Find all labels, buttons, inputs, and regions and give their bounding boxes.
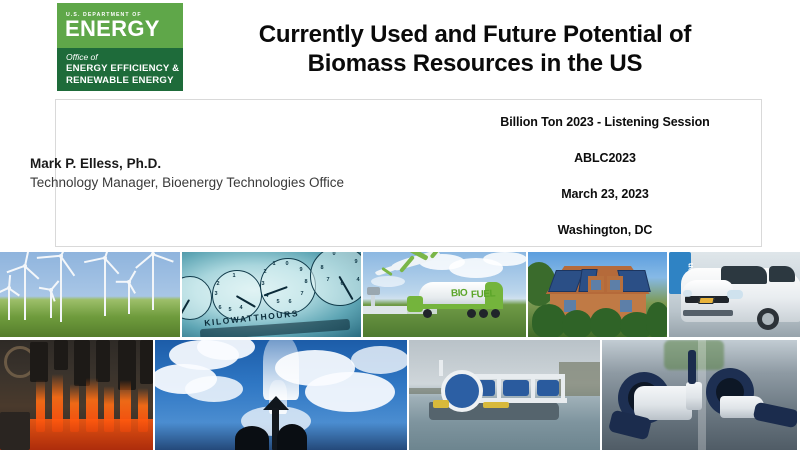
presenter-role: Technology Manager, Bioenergy Technologi… bbox=[30, 173, 430, 192]
event-line-conference: ABLC2023 bbox=[455, 151, 755, 165]
biofuel-truck-photo: BIO FUEL bbox=[363, 252, 526, 337]
photo-row-top: 1 6 5 4 3 2 1 0 9 8 7 6 5 4 3 2 bbox=[0, 252, 800, 337]
presenter-block: Mark P. Elless, Ph.D. Technology Manager… bbox=[30, 155, 430, 192]
doe-logo-top-band: U.S. DEPARTMENT OF ENERGY bbox=[57, 3, 183, 48]
slide-title-line1: Currently Used and Future Potential of bbox=[195, 20, 755, 49]
logo-office-name-line1: ENERGY EFFICIENCY & bbox=[66, 63, 179, 75]
slide-title: Currently Used and Future Potential of B… bbox=[195, 20, 755, 78]
presenter-name: Mark P. Elless, Ph.D. bbox=[30, 155, 430, 173]
logo-office-line: Office of bbox=[66, 52, 98, 62]
event-line-session: Billion Ton 2023 - Listening Session bbox=[455, 115, 755, 129]
steel-mill-photo bbox=[0, 340, 153, 450]
event-info-block: Billion Ton 2023 - Listening Session ABL… bbox=[455, 115, 755, 259]
logo-agency-name: ENERGY bbox=[65, 17, 160, 41]
marine-energy-photo bbox=[409, 340, 600, 450]
hydrogen-vehicle-photo: drogen bbox=[669, 252, 800, 337]
solar-house-photo bbox=[528, 252, 668, 337]
logo-office-name-line2: RENEWABLE ENERGY bbox=[66, 75, 179, 87]
smokestack-sky-photo bbox=[155, 340, 407, 450]
electric-meter-photo: 1 6 5 4 3 2 1 0 9 8 7 6 5 4 3 2 bbox=[182, 252, 362, 337]
biofuel-truck-label-bio: BIO bbox=[451, 288, 468, 300]
wind-farm-photo bbox=[0, 252, 180, 337]
logo-office-name: ENERGY EFFICIENCY & RENEWABLE ENERGY bbox=[66, 63, 179, 86]
biofuel-truck-label-fuel: FUEL bbox=[471, 288, 496, 300]
slide-title-line2: Biomass Resources in the US bbox=[195, 49, 755, 78]
event-line-date: March 23, 2023 bbox=[455, 187, 755, 201]
photo-strip: 1 6 5 4 3 2 1 0 9 8 7 6 5 4 3 2 bbox=[0, 252, 800, 450]
doe-logo-bottom-band: Office of ENERGY EFFICIENCY & RENEWABLE … bbox=[57, 48, 183, 91]
ev-charging-photo bbox=[602, 340, 797, 450]
photo-row-bottom bbox=[0, 340, 800, 450]
event-line-location: Washington, DC bbox=[455, 223, 755, 237]
doe-eere-logo: U.S. DEPARTMENT OF ENERGY Office of ENER… bbox=[57, 3, 183, 91]
